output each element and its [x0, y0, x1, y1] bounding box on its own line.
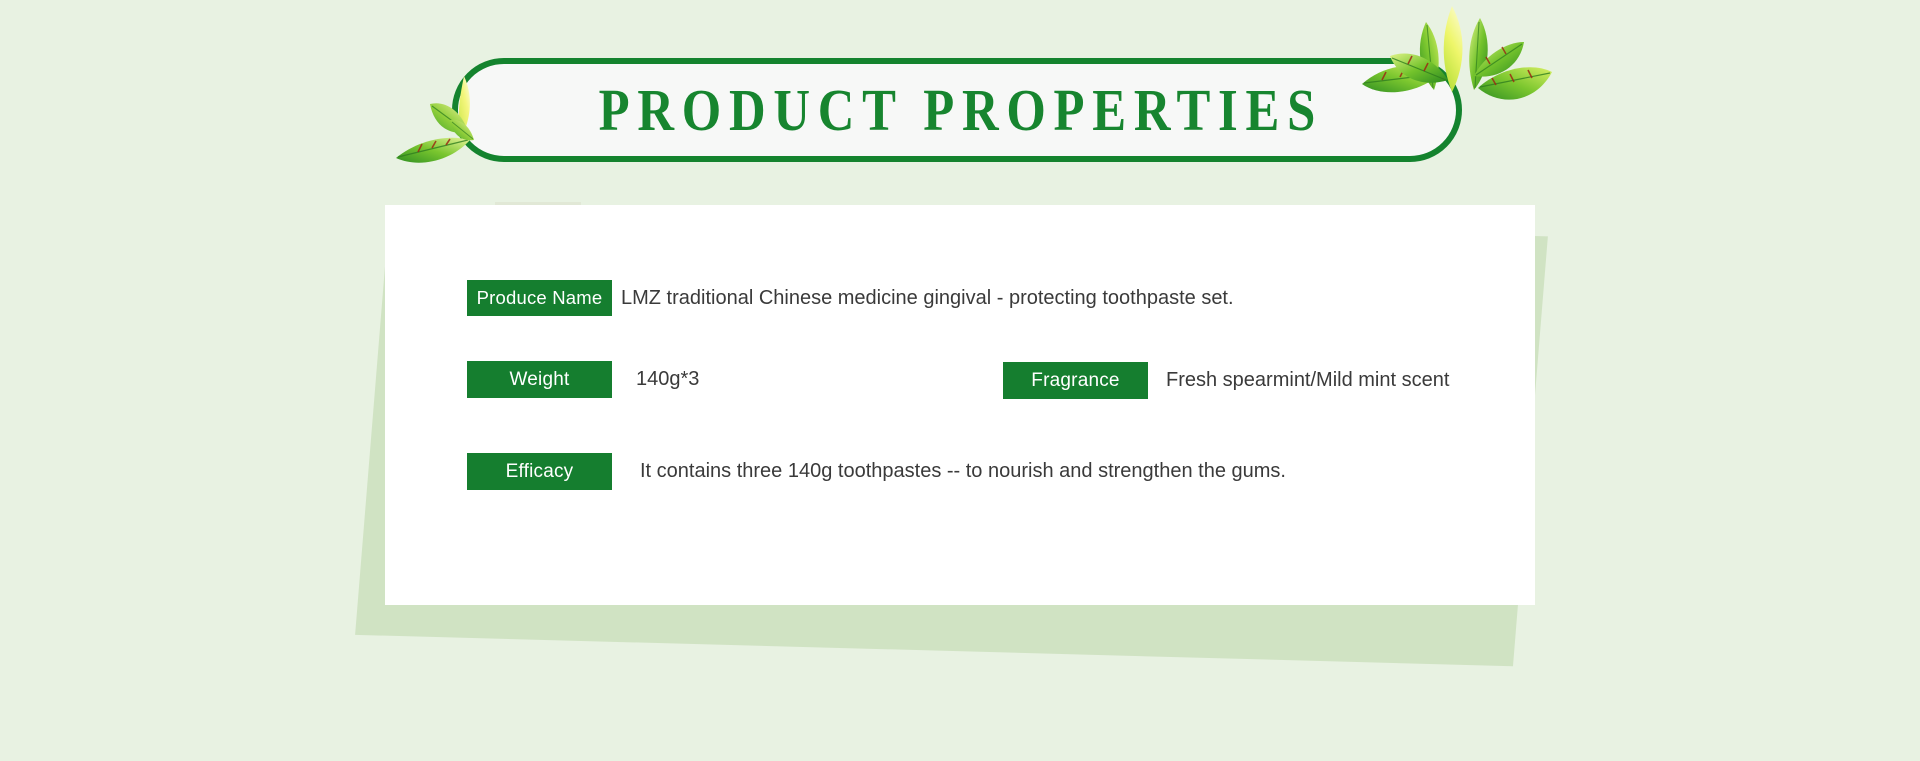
property-value-efficacy: It contains three 140g toothpastes -- to… [640, 460, 1286, 483]
product-properties-page: PRODUCT PROPERTIES [0, 0, 1920, 761]
property-row-efficacy: Efficacy It contains three 140g toothpas… [467, 453, 1286, 490]
property-label-weight: Weight [467, 361, 612, 398]
property-value-produce-name: LMZ traditional Chinese medicine gingiva… [621, 287, 1234, 310]
property-label-fragrance: Fragrance [1003, 362, 1148, 399]
property-row-weight: Weight 140g*3 [467, 361, 699, 398]
property-row-produce-name: Produce Name LMZ traditional Chinese med… [467, 280, 1234, 316]
properties-list: Produce Name LMZ traditional Chinese med… [385, 205, 1535, 605]
property-value-weight: 140g*3 [636, 368, 699, 391]
property-value-fragrance: Fresh spearmint/Mild mint scent [1166, 369, 1449, 392]
properties-card: Produce Name LMZ traditional Chinese med… [385, 205, 1535, 605]
property-label-produce-name: Produce Name [467, 280, 612, 316]
page-title: PRODUCT PROPERTIES [523, 58, 1392, 162]
page-title-banner: PRODUCT PROPERTIES [452, 58, 1462, 162]
property-label-efficacy: Efficacy [467, 453, 612, 490]
leaf-cluster-right-icon [1356, 0, 1566, 128]
property-row-fragrance: Fragrance Fresh spearmint/Mild mint scen… [1003, 362, 1449, 399]
leaf-cluster-left-icon [390, 62, 520, 182]
